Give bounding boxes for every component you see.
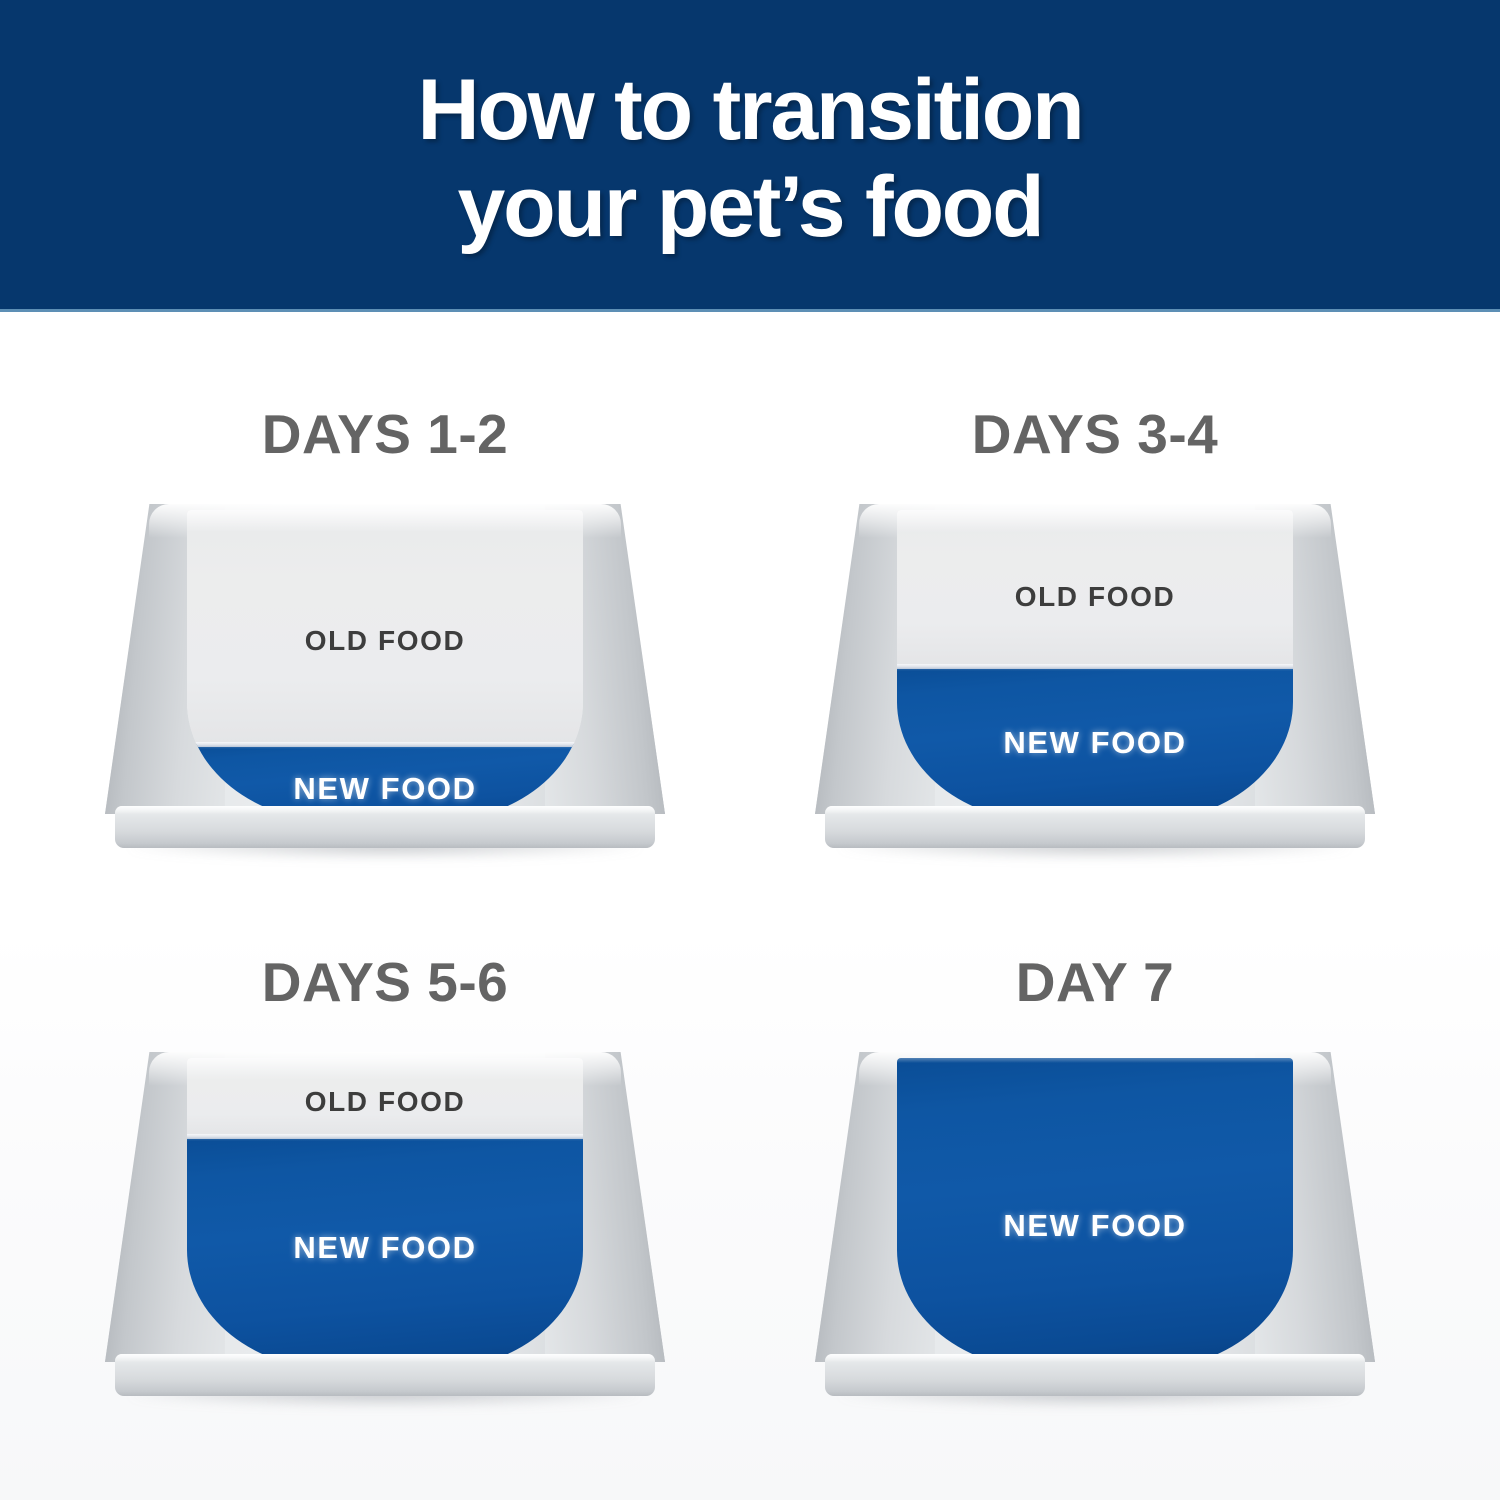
- bowl-base: [115, 1354, 655, 1396]
- bowl-base: [115, 806, 655, 848]
- infographic-page: How to transition your pet’s food DAYS 1…: [0, 0, 1500, 1500]
- transition-steps-grid: DAYS 1-2 OLD FOOD NEW FOOD: [0, 312, 1500, 1500]
- bowl-food-well-1: OLD FOOD NEW FOOD: [187, 510, 583, 822]
- bowl-base: [825, 1354, 1365, 1396]
- new-food-label: NEW FOOD: [897, 1208, 1293, 1244]
- day-label-step-3: DAYS 5-6: [30, 952, 740, 1012]
- old-food-highlight: [187, 510, 583, 532]
- header-banner: How to transition your pet’s food: [0, 0, 1500, 312]
- old-food-label: OLD FOOD: [187, 625, 583, 657]
- bowl-food-well-3: OLD FOOD NEW FOOD: [187, 1058, 583, 1370]
- transition-step-days-3-4: DAYS 3-4 OLD FOOD NEW FOOD: [740, 404, 1490, 964]
- old-food-label: OLD FOOD: [187, 1086, 583, 1118]
- page-title-line-1: How to transition: [0, 62, 1500, 159]
- food-bowl-step-3: OLD FOOD NEW FOOD: [105, 1052, 665, 1402]
- day-label-step-4: DAY 7: [740, 952, 1450, 1012]
- old-food-highlight: [187, 1058, 583, 1080]
- page-title: How to transition your pet’s food: [0, 62, 1500, 256]
- transition-step-days-1-2: DAYS 1-2 OLD FOOD NEW FOOD: [30, 404, 780, 964]
- old-food-highlight: [897, 510, 1293, 532]
- transition-step-day-7: DAY 7 OLD FOOD NEW FOOD: [740, 952, 1490, 1512]
- transition-step-days-5-6: DAYS 5-6 OLD FOOD NEW FOOD: [30, 952, 780, 1512]
- bowl-food-well-2: OLD FOOD NEW FOOD: [897, 510, 1293, 822]
- day-label-step-2: DAYS 3-4: [740, 404, 1450, 464]
- food-bowl-step-1: OLD FOOD NEW FOOD: [105, 504, 665, 854]
- new-food-label: NEW FOOD: [897, 725, 1293, 761]
- page-title-line-2: your pet’s food: [0, 159, 1500, 256]
- new-food-label: NEW FOOD: [187, 1230, 583, 1266]
- bowl-food-well-4: OLD FOOD NEW FOOD: [897, 1058, 1293, 1370]
- bowl-base: [825, 806, 1365, 848]
- day-label-step-1: DAYS 1-2: [30, 404, 740, 464]
- food-bowl-step-4: OLD FOOD NEW FOOD: [815, 1052, 1375, 1402]
- new-food-label: NEW FOOD: [187, 771, 583, 807]
- old-food-label: OLD FOOD: [897, 581, 1293, 613]
- food-bowl-step-2: OLD FOOD NEW FOOD: [815, 504, 1375, 854]
